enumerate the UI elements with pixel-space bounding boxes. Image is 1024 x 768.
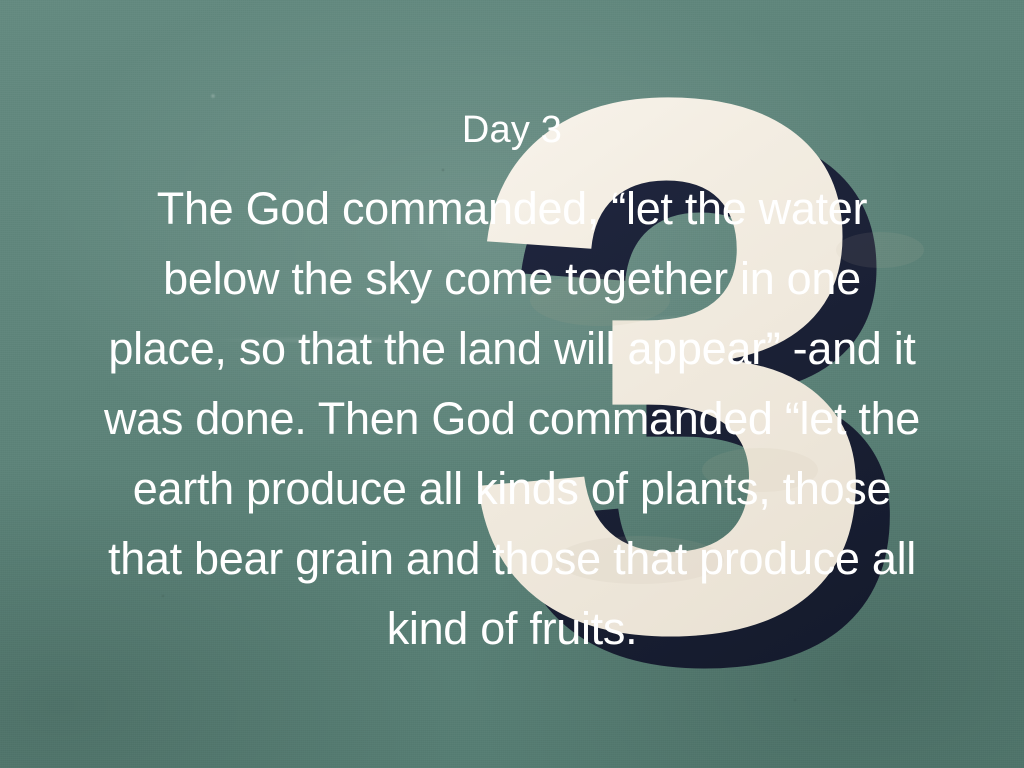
body-line: kind of fruits.: [4, 594, 1020, 664]
slide-title: Day 3: [0, 108, 1024, 152]
slide-canvas: 3 3 Day 3 The God commanded, “let the wa…: [0, 0, 1024, 768]
body-line: The God commanded, “let the water: [4, 174, 1020, 244]
slide-body-text: The God commanded, “let the water below …: [4, 174, 1020, 664]
body-line: place, so that the land will appear” -an…: [4, 314, 1020, 384]
body-line: that bear grain and those that produce a…: [4, 524, 1020, 594]
body-line: below the sky come together in one: [4, 244, 1020, 314]
text-overlay: Day 3 The God commanded, “let the water …: [0, 0, 1024, 768]
body-line: earth produce all kinds of plants, those: [4, 454, 1020, 524]
body-line: was done. Then God commanded “let the: [4, 384, 1020, 454]
